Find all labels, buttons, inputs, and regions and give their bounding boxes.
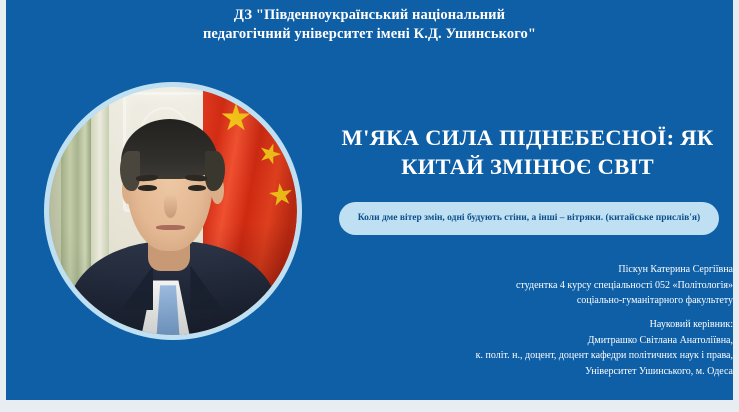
slide-panel: ДЗ "Південноукраїнський національний пед… [6, 0, 733, 400]
presentation-slide: ДЗ "Південноукраїнський національний пед… [0, 0, 739, 412]
slide-title-line-2: КИТАЙ ЗМІНЮЄ СВІТ [322, 152, 733, 181]
institution-header: ДЗ "Південноукраїнський національний пед… [6, 6, 733, 44]
supervisor-title: к. політ. н., доцент, доцент кафедри пол… [333, 348, 733, 364]
slide-title-line-1: М'ЯКА СИЛА ПІДНЕБЕСНОЇ: ЯК [322, 123, 733, 152]
supervisor-name: Дмитрашко Світлана Анатоліївна, [333, 333, 733, 349]
author-name: Піскун Катерина Сергіївна [333, 262, 733, 278]
portrait-frame [44, 82, 302, 340]
proverb-text: Коли дме вітер змін, одні будують стіни,… [358, 213, 700, 223]
supervisor-affiliation: Університет Ушинського, м. Одеса [333, 364, 733, 380]
supervisor-label: Науковий керівник: [333, 317, 733, 333]
institution-header-line-1: ДЗ "Південноукраїнський національний [6, 6, 733, 25]
portrait-photo [49, 87, 297, 335]
author-block: Піскун Катерина Сергіївна студентка 4 ку… [333, 262, 733, 309]
author-faculty: соціально-гуманітарного факультету [333, 293, 733, 309]
slide-title: М'ЯКА СИЛА ПІДНЕБЕСНОЇ: ЯК КИТАЙ ЗМІНЮЄ … [322, 123, 733, 181]
photo-vignette [49, 87, 297, 335]
author-program: студентка 4 курсу спеціальності 052 «Пол… [333, 278, 733, 294]
proverb-callout: Коли дме вітер змін, одні будують стіни,… [339, 202, 719, 235]
institution-header-line-2: педагогічний університет імені К.Д. Ушин… [6, 25, 733, 44]
supervisor-block: Науковий керівник: Дмитрашко Світлана Ан… [333, 317, 733, 379]
